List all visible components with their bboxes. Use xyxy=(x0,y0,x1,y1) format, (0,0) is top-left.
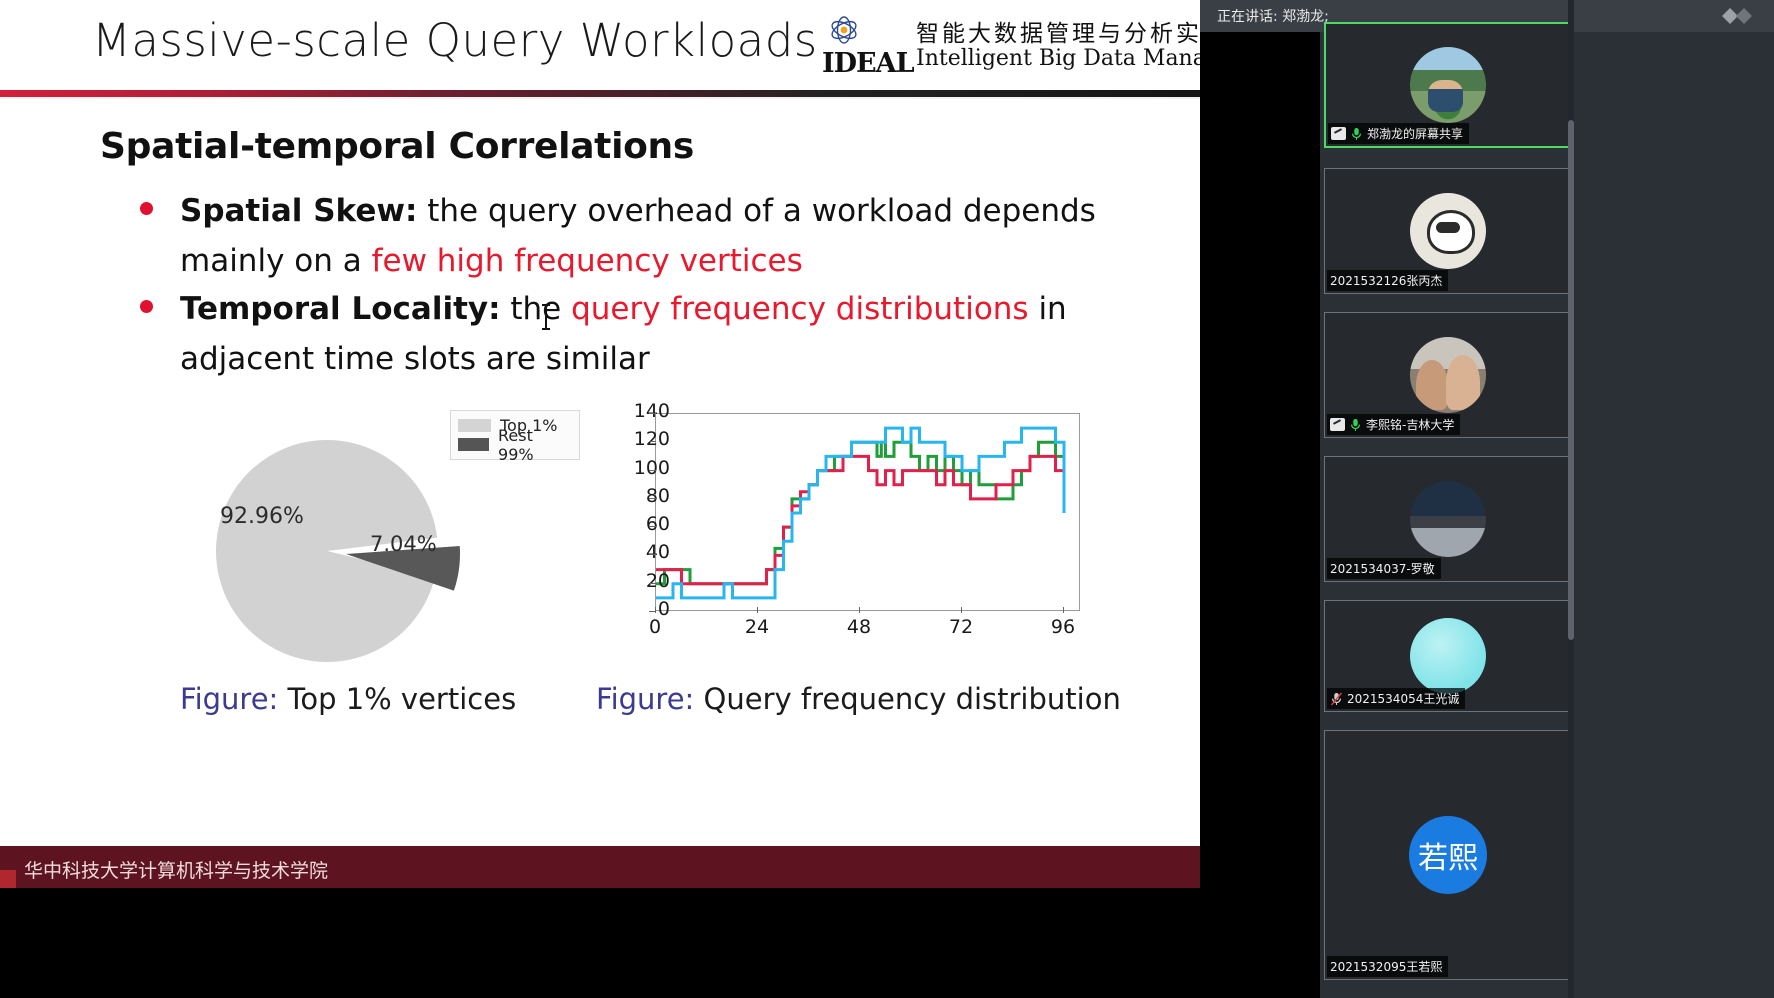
participant-name-label: 李熙铭-吉林大学 xyxy=(1366,416,1454,433)
participant-name-badge: 2021532126张丙杰 xyxy=(1327,270,1448,291)
mic-on-icon xyxy=(1350,127,1363,141)
y-axis-tick-label: 140 xyxy=(610,400,670,422)
participant-name-label: 2021532095王若熙 xyxy=(1330,958,1442,975)
lab-ideal-wordmark: IDEAL xyxy=(822,48,914,79)
gradient-circle xyxy=(1410,618,1486,694)
y-axis-tick-label: 80 xyxy=(610,485,670,507)
participant-name-badge: 李熙铭-吉林大学 xyxy=(1327,414,1460,435)
figure-caption-right: Figure: Query frequency distribution xyxy=(596,682,1121,716)
bullet-highlight: query frequency distributions xyxy=(571,291,1029,327)
participant-name-badge: 2021534037-罗敬 xyxy=(1327,558,1441,579)
y-axis-tick-label: 120 xyxy=(610,428,670,450)
figure-label: Figure: xyxy=(596,682,694,716)
mic-muted-icon xyxy=(1330,692,1343,706)
bullet-lead: Temporal Locality: xyxy=(180,291,501,327)
participant-tile[interactable]: 李熙铭-吉林大学 xyxy=(1324,312,1572,438)
figure-caption-text: Query frequency distribution xyxy=(704,682,1121,716)
atom-logo-icon xyxy=(820,12,892,48)
pie-value-label-major: 92.96% xyxy=(220,504,304,529)
participant-tile[interactable]: 郑渤龙的屏幕共享 xyxy=(1324,22,1572,148)
screen-share-icon xyxy=(1330,418,1345,431)
y-axis-tick-label: 20 xyxy=(610,570,670,592)
active-speaker-label: 正在讲话: 郑渤龙; xyxy=(1217,6,1329,26)
participant-name-badge: 郑渤龙的屏幕共享 xyxy=(1328,123,1469,144)
legend-row-rest99: Rest 99% xyxy=(458,435,569,454)
bullet-dot-icon xyxy=(140,300,153,313)
screen-root: Massive-scale Query Workloads IDEAL 智能大数… xyxy=(0,0,1774,998)
participant-tile[interactable]: 2021534054王光诚 xyxy=(1324,600,1572,712)
diamond-controls-icon[interactable] xyxy=(1710,4,1764,28)
participant-name-badge: 2021532095王若熙 xyxy=(1327,956,1448,977)
cartoon-panda xyxy=(1410,193,1486,269)
pie-legend: Top 1% Rest 99% xyxy=(450,410,580,460)
x-axis-tick-label: 48 xyxy=(834,616,884,638)
y-axis-tick-mark xyxy=(649,583,656,584)
avatar: 若熙 xyxy=(1409,816,1487,894)
legend-label: Rest 99% xyxy=(498,426,569,464)
participant-name-label: 2021534054王光诚 xyxy=(1347,690,1459,707)
line-series-day-1 xyxy=(656,442,1064,583)
y-axis-tick-label: 60 xyxy=(610,513,670,535)
participant-tile[interactable]: 2021534037-罗敬 xyxy=(1324,456,1572,582)
x-axis-tick-mark xyxy=(655,607,656,613)
initial-avatar: 若熙 xyxy=(1409,816,1487,894)
x-axis-tick-mark xyxy=(757,607,758,613)
slide-header: Massive-scale Query Workloads IDEAL 智能大数… xyxy=(0,0,1340,90)
participant-tile[interactable]: 若熙2021532095王若熙 xyxy=(1324,730,1572,980)
screen-share-icon xyxy=(1331,127,1346,140)
section-title: Spatial-temporal Correlations xyxy=(100,126,694,167)
participant-name-badge: 2021534054王光诚 xyxy=(1327,688,1465,709)
line-series-day-2 xyxy=(656,456,1064,583)
bullet-body: the xyxy=(501,291,572,327)
x-axis-tick-mark xyxy=(961,607,962,613)
y-axis-tick-label: 40 xyxy=(610,541,670,563)
bullet-lead: Spatial Skew: xyxy=(180,193,417,229)
avatar xyxy=(1410,337,1486,413)
photo-children xyxy=(1410,337,1486,413)
bullet-dot-icon xyxy=(140,202,153,215)
figure-caption-text: Top 1% vertices xyxy=(288,682,517,716)
participant-name-label: 郑渤龙的屏幕共享 xyxy=(1367,125,1463,142)
participant-tile[interactable]: 2021532126张丙杰 xyxy=(1324,168,1572,294)
pie-value-label-minor: 7.04% xyxy=(370,532,437,556)
header-divider-light xyxy=(0,97,1340,99)
y-axis-tick-mark xyxy=(649,470,656,471)
legend-swatch-icon xyxy=(458,419,491,432)
footer-accent-badge xyxy=(0,870,16,888)
x-axis-tick-label: 0 xyxy=(630,616,680,638)
y-axis-tick-mark xyxy=(649,498,656,499)
x-axis-tick-mark xyxy=(859,607,860,613)
participant-name-label: 2021532126张丙杰 xyxy=(1330,272,1442,289)
bullet-highlight: few high frequency vertices xyxy=(372,243,803,279)
y-axis-tick-label: 100 xyxy=(610,457,670,479)
line-chart-series-svg xyxy=(656,414,1081,612)
participant-name-label: 2021534037-罗敬 xyxy=(1330,560,1435,577)
x-axis-tick-label: 24 xyxy=(732,616,782,638)
line-chart-plot-area xyxy=(655,413,1080,611)
avatar xyxy=(1410,481,1486,557)
avatar xyxy=(1410,193,1486,269)
figure-caption-left: Figure: Top 1% vertices xyxy=(180,682,516,716)
text-cursor xyxy=(545,304,547,330)
slide-letterbox xyxy=(0,888,1340,978)
page-title: Massive-scale Query Workloads xyxy=(92,14,818,67)
slide-footer: 华中科技大学计算机科学与技术学院 8 / 46 xyxy=(0,846,1340,888)
figure-label: Figure: xyxy=(180,682,278,716)
pie-chart: 92.96% 7.04% Top 1% Rest 99% xyxy=(180,400,580,660)
y-axis-tick-mark xyxy=(649,441,656,442)
line-series-day-3 xyxy=(656,428,1064,598)
presentation-slide: Massive-scale Query Workloads IDEAL 智能大数… xyxy=(0,0,1340,978)
bullet-text: Spatial Skew: the query overhead of a wo… xyxy=(180,186,1180,286)
participants-scrollbar-thumb[interactable] xyxy=(1568,120,1574,640)
bullet-text: Temporal Locality: the query frequency d… xyxy=(180,284,1180,384)
line-chart: 020406080100120140024487296 xyxy=(600,400,1100,650)
x-axis-tick-label: 72 xyxy=(936,616,986,638)
y-axis-tick-mark xyxy=(649,526,656,527)
mic-on-icon xyxy=(1349,418,1362,432)
shared-screen-area: Massive-scale Query Workloads IDEAL 智能大数… xyxy=(0,0,1340,998)
avatar xyxy=(1410,618,1486,694)
photo-skyline xyxy=(1410,481,1486,557)
y-axis-tick-mark xyxy=(649,554,656,555)
y-axis-tick-mark xyxy=(649,413,656,414)
x-axis-tick-mark xyxy=(1063,607,1064,613)
legend-swatch-icon xyxy=(458,438,489,451)
avatar xyxy=(1410,47,1486,123)
header-divider xyxy=(0,90,1340,97)
photo-landscape xyxy=(1410,47,1486,123)
footer-institution: 华中科技大学计算机科学与技术学院 xyxy=(24,856,328,883)
x-axis-tick-label: 96 xyxy=(1038,616,1088,638)
